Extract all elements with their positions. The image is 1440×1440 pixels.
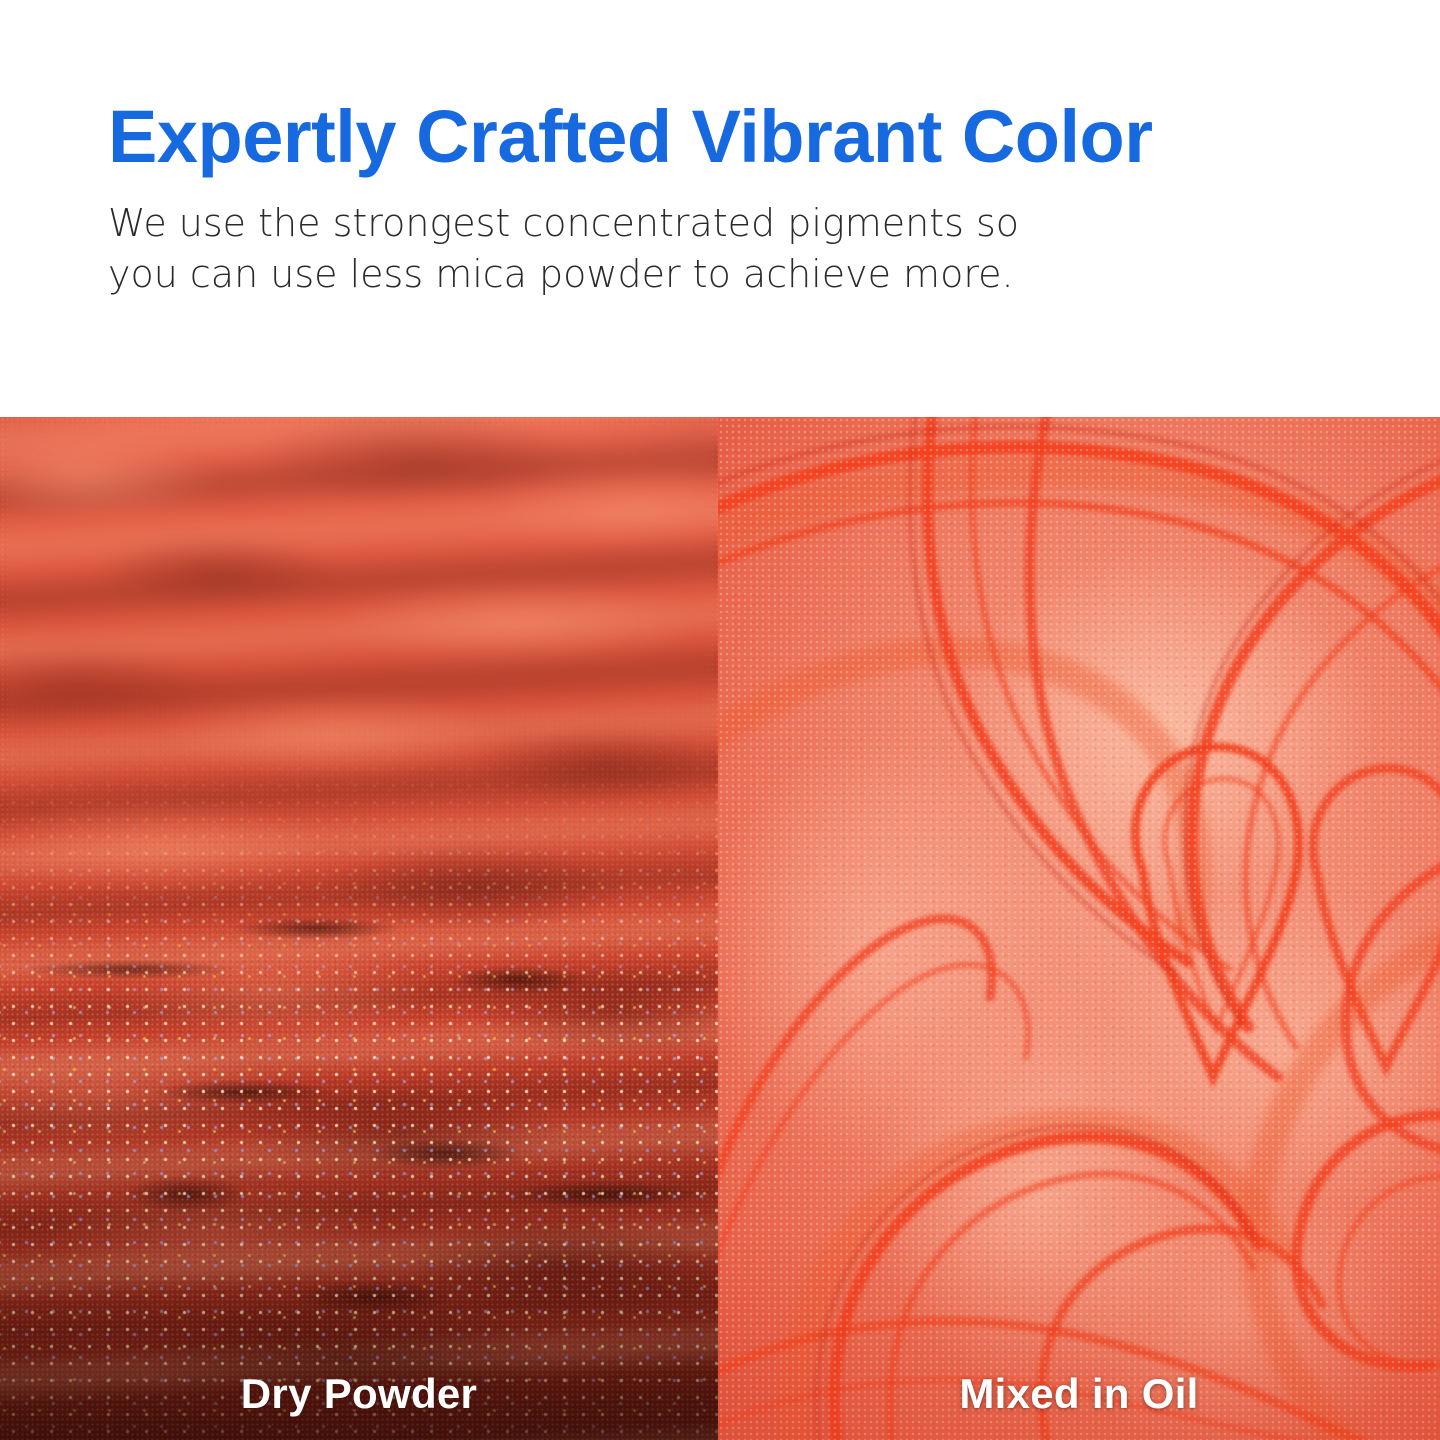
powder-vignette (0, 417, 718, 1440)
subtitle: We use the strongest concentrated pigmen… (108, 198, 1228, 300)
dry-powder-photo: Dry Powder (0, 417, 718, 1440)
oil-vignette (718, 417, 1440, 1440)
subtitle-line-1: We use the strongest concentrated pigmen… (108, 198, 1228, 249)
page-title: Expertly Crafted Vibrant Color (108, 96, 1153, 178)
mixed-in-oil-photo: Mixed in Oil (718, 417, 1440, 1440)
subtitle-line-2: you can use less mica powder to achieve … (108, 249, 1228, 300)
header-section: Expertly Crafted Vibrant Color We use th… (0, 0, 1440, 417)
product-feature-card: Expertly Crafted Vibrant Color We use th… (0, 0, 1440, 1440)
comparison-image-strip: Dry Powder (0, 417, 1440, 1440)
